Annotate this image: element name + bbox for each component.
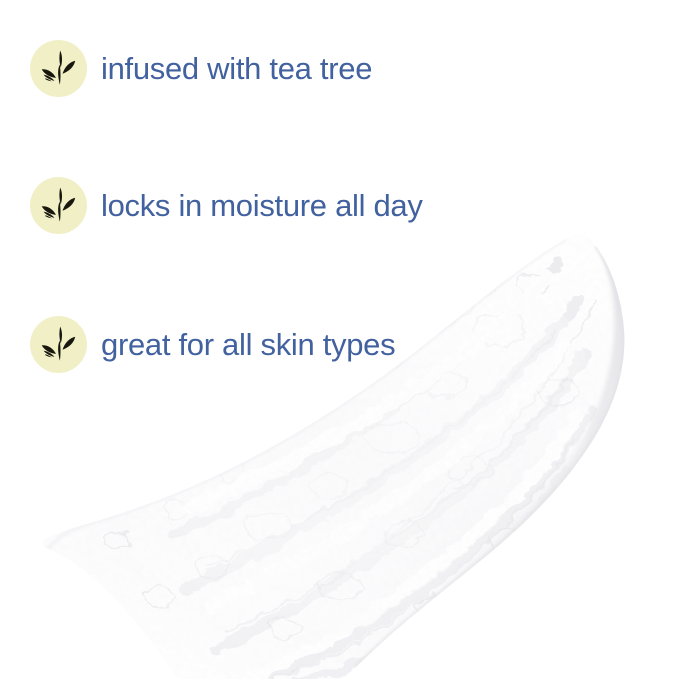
tea-leaf-sprig-icon [30, 177, 87, 234]
feature-row: infused with tea tree [30, 39, 372, 97]
feature-label: infused with tea tree [101, 40, 372, 97]
feature-row: great for all skin types [30, 315, 395, 373]
feature-label: locks in moisture all day [101, 177, 423, 234]
feature-label: great for all skin types [101, 316, 395, 373]
tea-leaf-sprig-icon [30, 316, 87, 373]
feature-row: locks in moisture all day [30, 176, 423, 234]
product-feature-panel: infused with tea tree locks in moisture … [0, 0, 679, 679]
tea-leaf-sprig-icon [30, 40, 87, 97]
